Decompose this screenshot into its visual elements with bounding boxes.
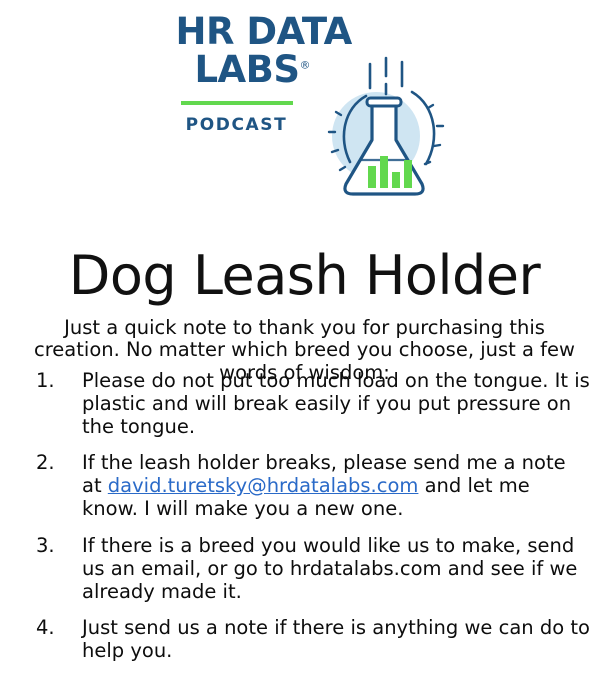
logo-line-labs: LABS® (194, 52, 310, 88)
list-item-text: If there is a breed you would like us to… (82, 535, 590, 603)
list-item-text: If the leash holder breaks, please send … (82, 452, 590, 520)
page-title: Dog Leash Holder (0, 248, 609, 305)
logo-labs-text: LABS (194, 48, 299, 91)
list-item: 4. Just send us a note if there is anyth… (30, 617, 590, 663)
list-item-number: 2. (30, 452, 82, 475)
list-item: 1. Please do not put too much load on th… (30, 370, 590, 438)
list-item: 2. If the leash holder breaks, please se… (30, 452, 590, 520)
email-link[interactable]: david.turetsky@hrdatalabs.com (108, 474, 419, 497)
registered-trademark-icon: ® (300, 59, 311, 72)
logo-divider-rule (181, 101, 293, 105)
instruction-list: 1. Please do not put too much load on th… (30, 370, 590, 677)
list-item-number: 4. (30, 617, 82, 640)
list-item-text: Please do not put too much load on the t… (82, 370, 590, 438)
list-item-number: 1. (30, 370, 82, 393)
list-item-text: Just send us a note if there is anything… (82, 617, 590, 663)
logo-tagline-podcast: PODCAST (181, 115, 293, 135)
list-item: 3. If there is a breed you would like us… (30, 535, 590, 603)
flask-bar-chart-icon (320, 52, 448, 204)
brand-logo: HR DATA LABS® PODCAST (0, 14, 609, 204)
logo-wordmark: HR DATA LABS® PODCAST (170, 14, 330, 135)
logo-line-hr-data: HR DATA (176, 14, 330, 50)
list-item-number: 3. (30, 535, 82, 558)
